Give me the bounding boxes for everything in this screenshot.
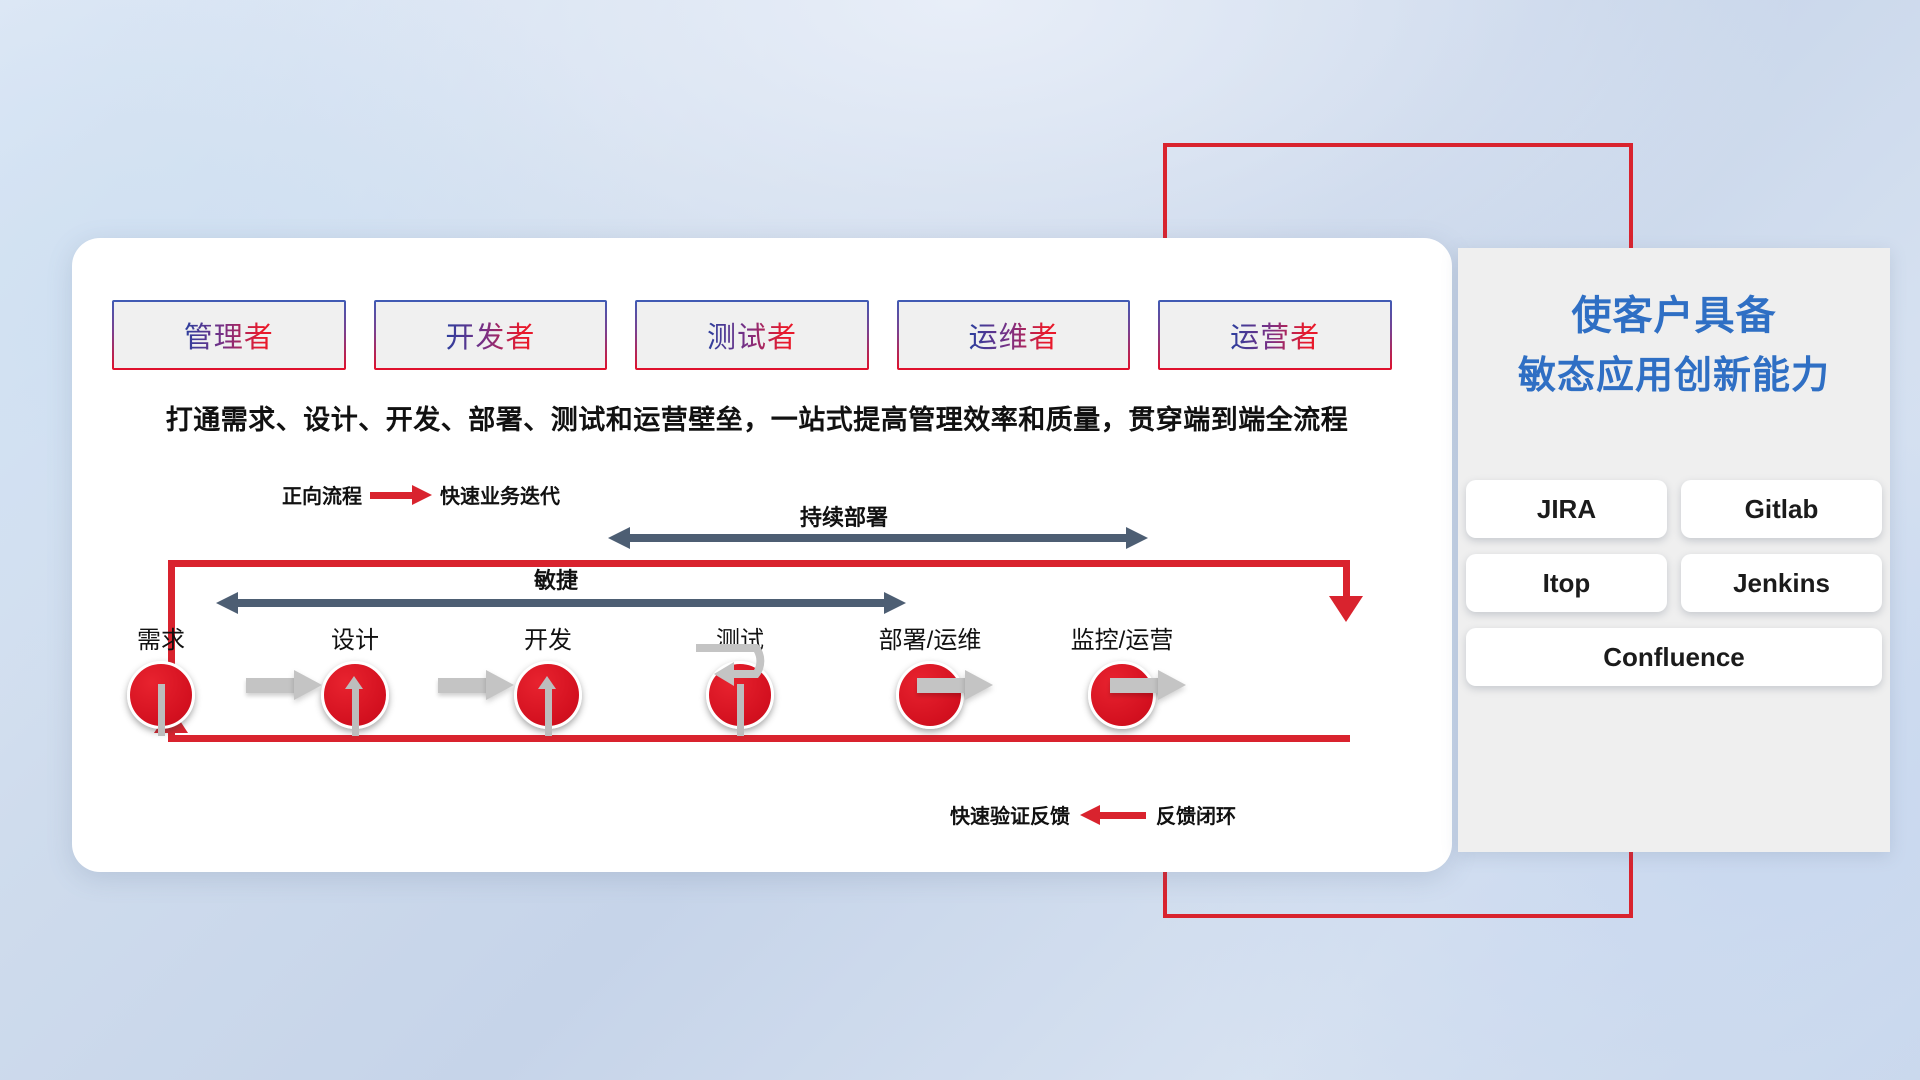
tool-chip-list: JIRA Gitlab Itop Jenkins Confluence [1466,480,1882,686]
arrow-shaft [917,678,969,693]
stage-stem-arrow-development-icon [538,676,556,689]
stage-connector-arrow-icon [917,670,993,700]
legend-feedback-to-label: 快速验证反馈 [950,800,1070,829]
legend-feedback-loop: 快速验证反馈 反馈闭环 [950,800,1236,829]
stage-stem-requirement [158,684,165,736]
stage-stem-design [352,684,359,736]
red-arrow-left-icon [1080,805,1146,825]
tool-chip-confluence[interactable]: Confluence [1466,628,1882,686]
stage-connector-arrow-icon [438,670,514,700]
pipeline-stage-label: 监控/运营 [1037,620,1207,655]
slide-canvas: 管理者 开发者 测试者 运维者 运营者 打通需求、设计、开发、部署、测试和运营壁… [0,0,1920,1080]
stage-connector-arrow-icon [246,670,322,700]
pipeline-stage-label: 设计 [270,620,440,655]
stage-stem-development [545,684,552,736]
arrow-head-right-icon [486,670,514,700]
arrow-shaft [438,678,490,693]
pipeline-stage-label: 需求 [76,620,246,655]
pipeline-stage-label: 开发 [463,620,633,655]
arrow-head-right-icon [294,670,322,700]
arrow-head-right-icon [1158,670,1186,700]
tool-chip-itop[interactable]: Itop [1466,554,1667,612]
arrow-head-right-icon [965,670,993,700]
stage-stem-arrow-design-icon [345,676,363,689]
pipeline-stage-label: 部署/运维 [845,620,1015,655]
arrow-shaft [1110,678,1162,693]
right-panel-title-line1: 使客户具备 [1458,285,1890,347]
tool-chip-gitlab[interactable]: Gitlab [1681,480,1882,538]
tool-chip-jira[interactable]: JIRA [1466,480,1667,538]
legend-feedback-from-label: 反馈闭环 [1156,800,1236,829]
right-panel-title-line2: 敏态应用创新能力 [1458,347,1890,406]
stage-stem-test [737,684,744,736]
right-panel-title: 使客户具备 敏态应用创新能力 [1458,285,1890,406]
tool-chip-jenkins[interactable]: Jenkins [1681,554,1882,612]
arrow-shaft [246,678,298,693]
dev-test-loop-arrow-icon [692,640,796,702]
stage-connector-arrow-icon [1110,670,1186,700]
